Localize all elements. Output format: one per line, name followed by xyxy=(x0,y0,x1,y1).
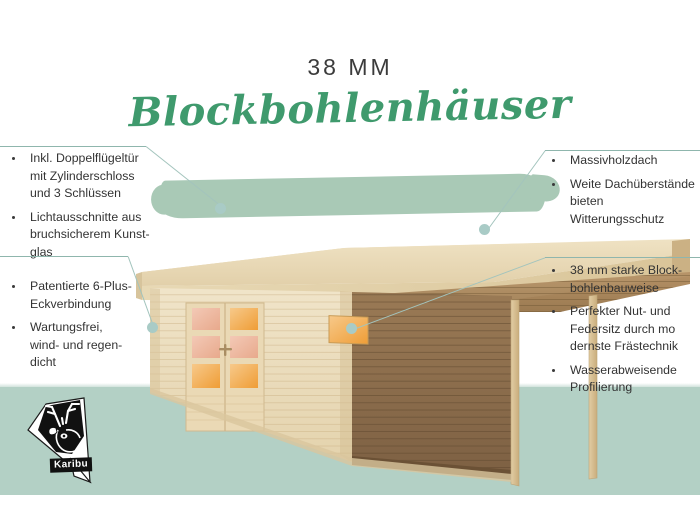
divider-left-top xyxy=(0,146,146,147)
feature-block-right-top: Massivholzdach Weite Dachüberstände biet… xyxy=(548,152,698,234)
connector-dot-right-top xyxy=(479,224,490,235)
list-item: Wasserabweisende Profilierung xyxy=(548,362,700,397)
bullet-line: Weite Dachüberstände xyxy=(570,177,695,191)
bullet-line: Federsitz durch mo xyxy=(570,322,675,336)
feature-block-left-top: Inkl. Doppelflügeltür mit Zylinderschlos… xyxy=(8,150,160,267)
brand-wordmark: Karibu xyxy=(50,457,93,472)
bullet-line: Patentierte 6-Plus- xyxy=(30,279,132,293)
bullet-line: dernste Frästechnik xyxy=(570,339,678,353)
bullet-line: Massivholzdach xyxy=(570,153,657,167)
bullet-line: Inkl. Doppelflügeltür xyxy=(30,151,139,165)
list-item: 38 mm starke Block- bohlenbauweise xyxy=(548,262,700,297)
list-item: Perfekter Nut- und Federsitz durch mo de… xyxy=(548,303,700,356)
bullet-line: Wartungsfrei, xyxy=(30,320,103,334)
infographic-canvas: 38 MM Blockbohlenhäuser xyxy=(0,0,700,525)
divider-right-bottom xyxy=(545,257,700,258)
bullet-line: mit Zylinderschloss xyxy=(30,169,135,183)
deer-head-pennant-icon xyxy=(22,396,108,488)
bullet-line: bruchsicherem Kunst- xyxy=(30,227,150,241)
bullet-line: Perfekter Nut- und xyxy=(570,304,670,318)
brand-logo: Karibu xyxy=(22,396,108,488)
list-item: Massivholzdach xyxy=(548,152,698,170)
bullet-line: wind- und regen- xyxy=(30,338,122,352)
list-item: Patentierte 6-Plus- Eckverbindung xyxy=(8,278,160,313)
divider-left-bottom xyxy=(0,256,128,257)
feature-block-right-bottom: 38 mm starke Block- bohlenbauweise Perfe… xyxy=(548,262,700,403)
bullet-line: dicht xyxy=(30,355,56,369)
connector-dot-right-bottom xyxy=(346,323,357,334)
double-door xyxy=(186,303,264,431)
list-item: Weite Dachüberstände bieten Witterungssc… xyxy=(548,176,698,229)
list-item: Lichtausschnitte aus bruchsicherem Kunst… xyxy=(8,209,160,262)
feature-block-left-bottom: Patentierte 6-Plus- Eckverbindung Wartun… xyxy=(8,278,160,378)
bullet-line: Eckverbindung xyxy=(30,297,111,311)
bullet-line: und 3 Schlüssen xyxy=(30,186,121,200)
bullet-line: bieten Witterungsschutz xyxy=(570,194,664,226)
connector-dot-left-top xyxy=(215,203,226,214)
bullet-line: Wasserabweisende xyxy=(570,363,677,377)
list-item: Wartungsfrei, wind- und regen- dicht xyxy=(8,319,160,372)
bullet-line: Lichtausschnitte aus xyxy=(30,210,141,224)
bullet-line: Profilierung xyxy=(570,380,632,394)
list-item: Inkl. Doppelflügeltür mit Zylinderschlos… xyxy=(8,150,160,203)
bullet-line: 38 mm starke Block- xyxy=(570,263,682,277)
bullet-line: bohlenbauweise xyxy=(570,281,659,295)
